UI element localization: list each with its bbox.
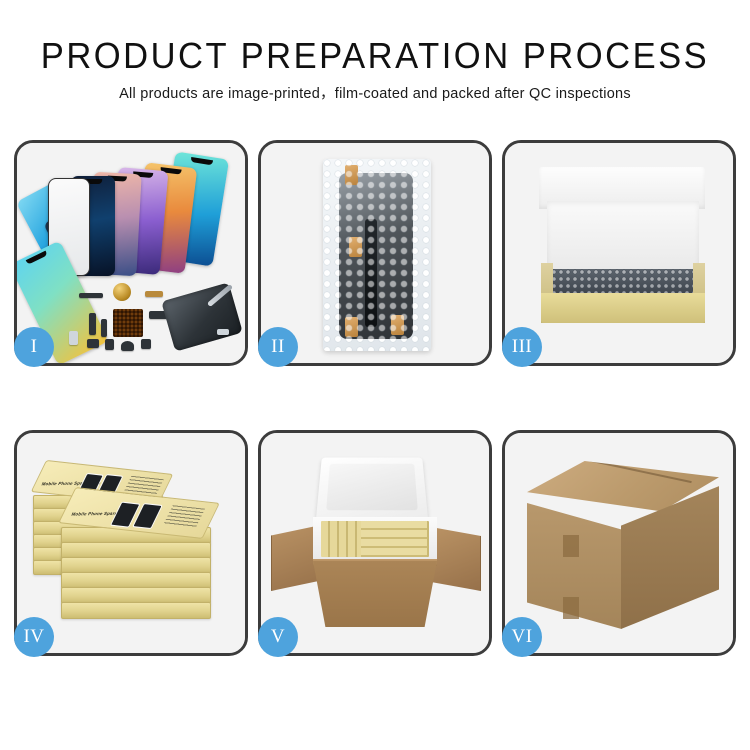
process-step-panel-2: II — [258, 140, 492, 366]
earpiece-icon — [121, 341, 134, 351]
sealed-carton-icon — [527, 461, 719, 629]
bubble-wrap-pouch-icon — [323, 159, 431, 351]
flex-cable-icon — [79, 293, 103, 298]
tweezers-icon — [217, 329, 229, 335]
screw-set-icon — [87, 339, 99, 348]
step-2-illustration — [261, 143, 489, 363]
yellow-boxes-row-icon — [361, 521, 427, 557]
step-6-illustration — [505, 433, 733, 653]
step-badge-3: III — [502, 327, 542, 367]
step-3-illustration — [505, 143, 733, 363]
process-steps-grid: I II — [14, 140, 736, 656]
box-front-panel-icon — [541, 293, 705, 323]
small-flex-icon — [89, 313, 96, 335]
phone-housing-icon — [161, 282, 243, 351]
page-subtitle: All products are image-printed，film-coat… — [0, 85, 750, 103]
step-badge-5: V — [258, 617, 298, 657]
notch-icon — [26, 250, 48, 264]
speaker-coil-icon — [113, 283, 131, 301]
carton-seam-icon — [558, 453, 691, 483]
step-1-illustration — [17, 143, 245, 363]
carton-front-panel-icon — [313, 561, 437, 627]
process-step-panel-5: V — [258, 430, 492, 656]
tape-tab-icon — [345, 317, 358, 337]
tape-tab-icon — [345, 165, 358, 185]
foam-liner-icon — [547, 201, 699, 273]
page-header: PRODUCT PREPARATION PROCESS All products… — [0, 36, 750, 103]
open-yellow-box-scene — [505, 143, 733, 363]
notch-icon — [191, 157, 213, 165]
product-preparation-process-page: PRODUCT PREPARATION PROCESS All products… — [0, 0, 750, 750]
step-5-illustration — [261, 433, 489, 653]
gold-connector-icon — [145, 291, 163, 297]
sim-pin-icon — [69, 331, 78, 345]
box-spec-lines-icon — [163, 505, 205, 529]
process-step-panel-6: VI — [502, 430, 736, 656]
carton-tape-icon — [563, 597, 579, 619]
chip-grid-icon — [113, 309, 143, 337]
tape-tab-icon — [391, 315, 404, 335]
stacked-box-edge — [61, 602, 211, 619]
sim-tray-icon — [141, 339, 151, 349]
carton-flap-right-icon — [431, 527, 481, 591]
page-title: PRODUCT PREPARATION PROCESS — [15, 36, 735, 76]
tape-tab-icon — [349, 237, 362, 257]
step-badge-4: IV — [14, 617, 54, 657]
foam-lid-inner-icon — [326, 464, 418, 510]
step-badge-6: VI — [502, 617, 542, 657]
small-flex-icon — [101, 319, 107, 337]
bubble-wrapped-contents-icon — [551, 269, 697, 295]
foam-lid-icon — [316, 458, 428, 520]
bracket-icon — [105, 339, 114, 350]
process-step-panel-3: III — [502, 140, 736, 366]
carton-packing-scene — [261, 433, 489, 653]
step-4-illustration: Mobile Phone Spare Parts — [17, 433, 245, 653]
step-badge-2: II — [258, 327, 298, 367]
sealed-carton-scene — [505, 433, 733, 653]
bubble-wrap-scene — [261, 143, 489, 363]
flex-cable-icon — [365, 219, 377, 327]
carton-tape-icon — [563, 535, 579, 557]
phone-parts-scene — [17, 143, 245, 363]
step-badge-1: I — [14, 327, 54, 367]
process-step-panel-1: I — [14, 140, 248, 366]
stacked-boxes-scene: Mobile Phone Spare Parts — [17, 433, 245, 653]
box-stack-icon: Mobile Phone Spare Parts — [33, 455, 237, 641]
process-step-panel-4: Mobile Phone Spare Parts — [14, 430, 248, 656]
